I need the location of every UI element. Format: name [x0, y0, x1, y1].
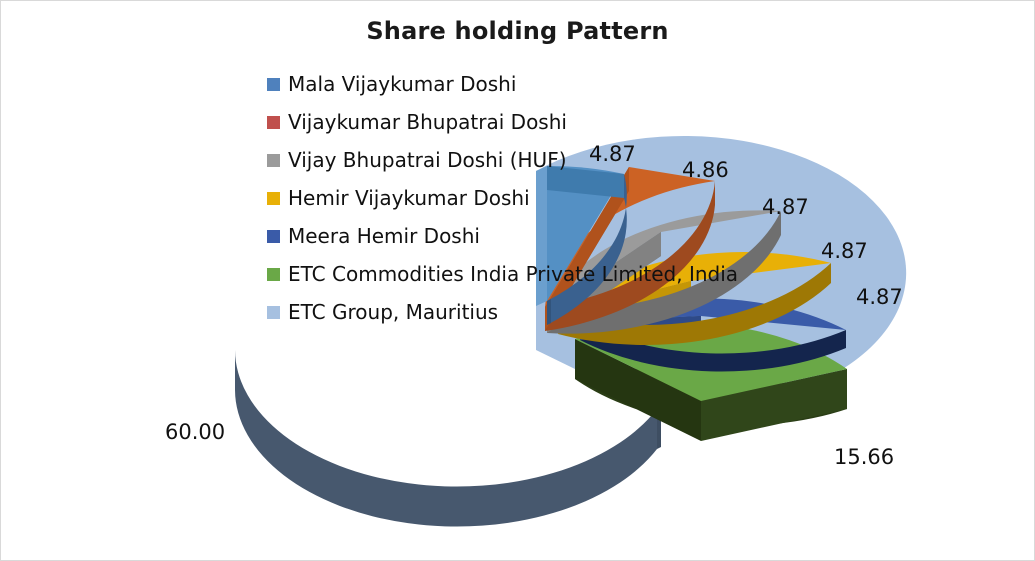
data-label-mala: 4.87	[589, 142, 636, 166]
legend-item-mala[interactable]: Mala Vijaykumar Doshi	[267, 65, 787, 103]
legend: Mala Vijaykumar Doshi Vijaykumar Bhupatr…	[267, 65, 787, 331]
data-label-meera: 4.87	[856, 285, 903, 309]
legend-item-label: ETC Group, Mauritius	[288, 302, 498, 322]
legend-item-label: Vijaykumar Bhupatrai Doshi	[288, 112, 567, 132]
data-label-vijaykumar: 4.86	[682, 158, 729, 182]
legend-item-label: Vijay Bhupatrai Doshi (HUF)	[288, 150, 567, 170]
legend-item-label: Meera Hemir Doshi	[288, 226, 480, 246]
data-label-etc-group: 60.00	[165, 420, 225, 444]
legend-swatch-icon	[267, 306, 280, 319]
legend-swatch-icon	[267, 116, 280, 129]
data-label-huf: 4.87	[762, 195, 809, 219]
pie-chart-figure: Share holding Pattern	[0, 0, 1035, 561]
legend-item-vijaykumar[interactable]: Vijaykumar Bhupatrai Doshi	[267, 103, 787, 141]
legend-item-etc-group[interactable]: ETC Group, Mauritius	[267, 293, 787, 331]
legend-swatch-icon	[267, 154, 280, 167]
legend-item-label: ETC Commodities India Private Limited, I…	[288, 264, 738, 284]
legend-item-hemir[interactable]: Hemir Vijaykumar Doshi	[267, 179, 787, 217]
legend-swatch-icon	[267, 192, 280, 205]
data-label-etc-commodities: 15.66	[834, 445, 894, 469]
legend-item-label: Hemir Vijaykumar Doshi	[288, 188, 530, 208]
legend-item-label: Mala Vijaykumar Doshi	[288, 74, 516, 94]
legend-item-meera[interactable]: Meera Hemir Doshi	[267, 217, 787, 255]
legend-item-etc-commodities[interactable]: ETC Commodities India Private Limited, I…	[267, 255, 787, 293]
legend-swatch-icon	[267, 78, 280, 91]
legend-swatch-icon	[267, 230, 280, 243]
data-label-hemir: 4.87	[821, 239, 868, 263]
legend-swatch-icon	[267, 268, 280, 281]
